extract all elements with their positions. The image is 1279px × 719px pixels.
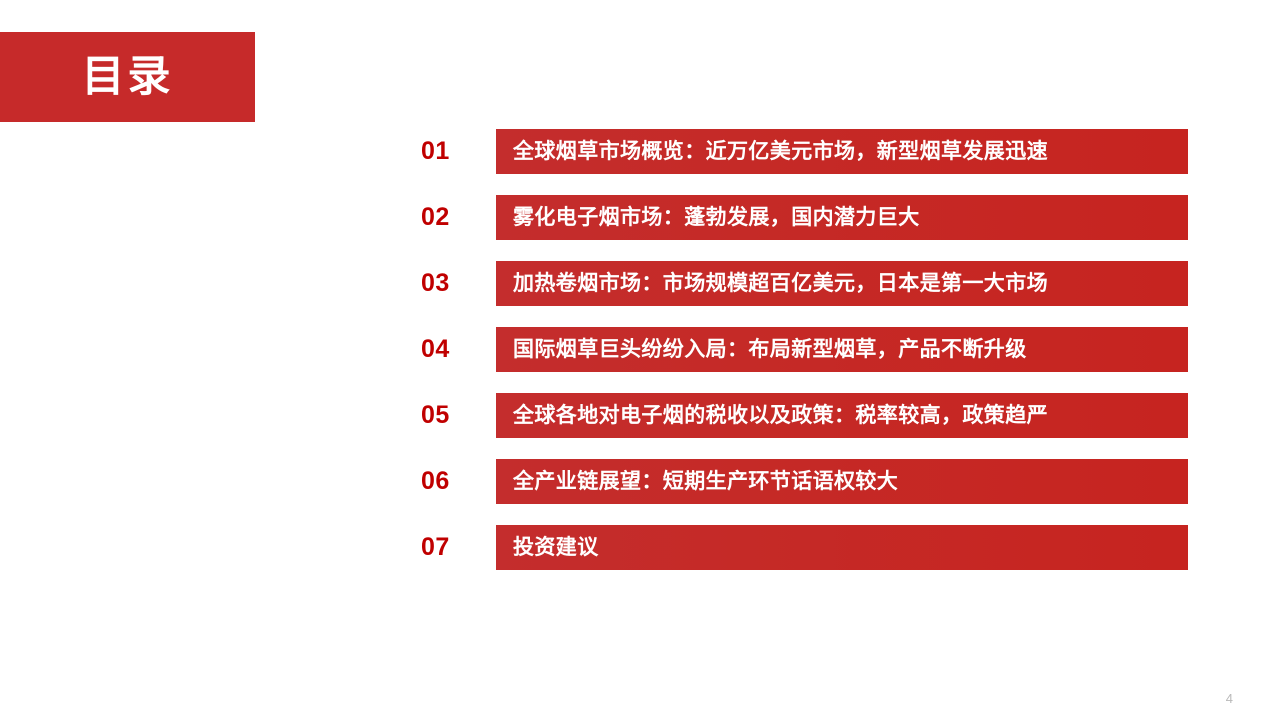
toc-item-04[interactable]: 04 国际烟草巨头纷纷入局：布局新型烟草，产品不断升级 — [421, 327, 1188, 372]
toc-item-number: 04 — [421, 327, 496, 372]
toc-item-number: 01 — [421, 129, 496, 174]
toc-item-06[interactable]: 06 全产业链展望：短期生产环节话语权较大 — [421, 459, 1188, 504]
slide-canvas: 目录 01 全球烟草市场概览：近万亿美元市场，新型烟草发展迅速 02 雾化电子烟… — [0, 0, 1279, 719]
toc-item-number: 06 — [421, 459, 496, 504]
toc-item-number: 07 — [421, 525, 496, 570]
toc-item-bar[interactable]: 雾化电子烟市场：蓬勃发展，国内潜力巨大 — [496, 195, 1188, 240]
toc-item-03[interactable]: 03 加热卷烟市场：市场规模超百亿美元，日本是第一大市场 — [421, 261, 1188, 306]
toc-item-bar[interactable]: 全产业链展望：短期生产环节话语权较大 — [496, 459, 1188, 504]
table-of-contents: 01 全球烟草市场概览：近万亿美元市场，新型烟草发展迅速 02 雾化电子烟市场：… — [421, 129, 1188, 570]
toc-item-number: 05 — [421, 393, 496, 438]
toc-item-label: 全产业链展望：短期生产环节话语权较大 — [513, 471, 898, 492]
toc-item-number: 02 — [421, 195, 496, 240]
toc-item-bar[interactable]: 国际烟草巨头纷纷入局：布局新型烟草，产品不断升级 — [496, 327, 1188, 372]
toc-item-01[interactable]: 01 全球烟草市场概览：近万亿美元市场，新型烟草发展迅速 — [421, 129, 1188, 174]
toc-item-02[interactable]: 02 雾化电子烟市场：蓬勃发展，国内潜力巨大 — [421, 195, 1188, 240]
toc-item-label: 全球各地对电子烟的税收以及政策：税率较高，政策趋严 — [513, 405, 1048, 426]
page-title: 目录 — [82, 56, 174, 99]
toc-item-label: 投资建议 — [513, 537, 599, 558]
toc-item-number: 03 — [421, 261, 496, 306]
toc-item-label: 加热卷烟市场：市场规模超百亿美元，日本是第一大市场 — [513, 273, 1048, 294]
toc-item-label: 国际烟草巨头纷纷入局：布局新型烟草，产品不断升级 — [513, 339, 1027, 360]
page-number: 4 — [1226, 692, 1233, 705]
toc-item-bar[interactable]: 全球烟草市场概览：近万亿美元市场，新型烟草发展迅速 — [496, 129, 1188, 174]
toc-item-bar[interactable]: 全球各地对电子烟的税收以及政策：税率较高，政策趋严 — [496, 393, 1188, 438]
toc-item-07[interactable]: 07 投资建议 — [421, 525, 1188, 570]
slide-title-block: 目录 — [0, 32, 255, 122]
toc-item-bar[interactable]: 投资建议 — [496, 525, 1188, 570]
toc-item-label: 全球烟草市场概览：近万亿美元市场，新型烟草发展迅速 — [513, 141, 1048, 162]
toc-item-bar[interactable]: 加热卷烟市场：市场规模超百亿美元，日本是第一大市场 — [496, 261, 1188, 306]
toc-item-label: 雾化电子烟市场：蓬勃发展，国内潜力巨大 — [513, 207, 920, 228]
toc-item-05[interactable]: 05 全球各地对电子烟的税收以及政策：税率较高，政策趋严 — [421, 393, 1188, 438]
